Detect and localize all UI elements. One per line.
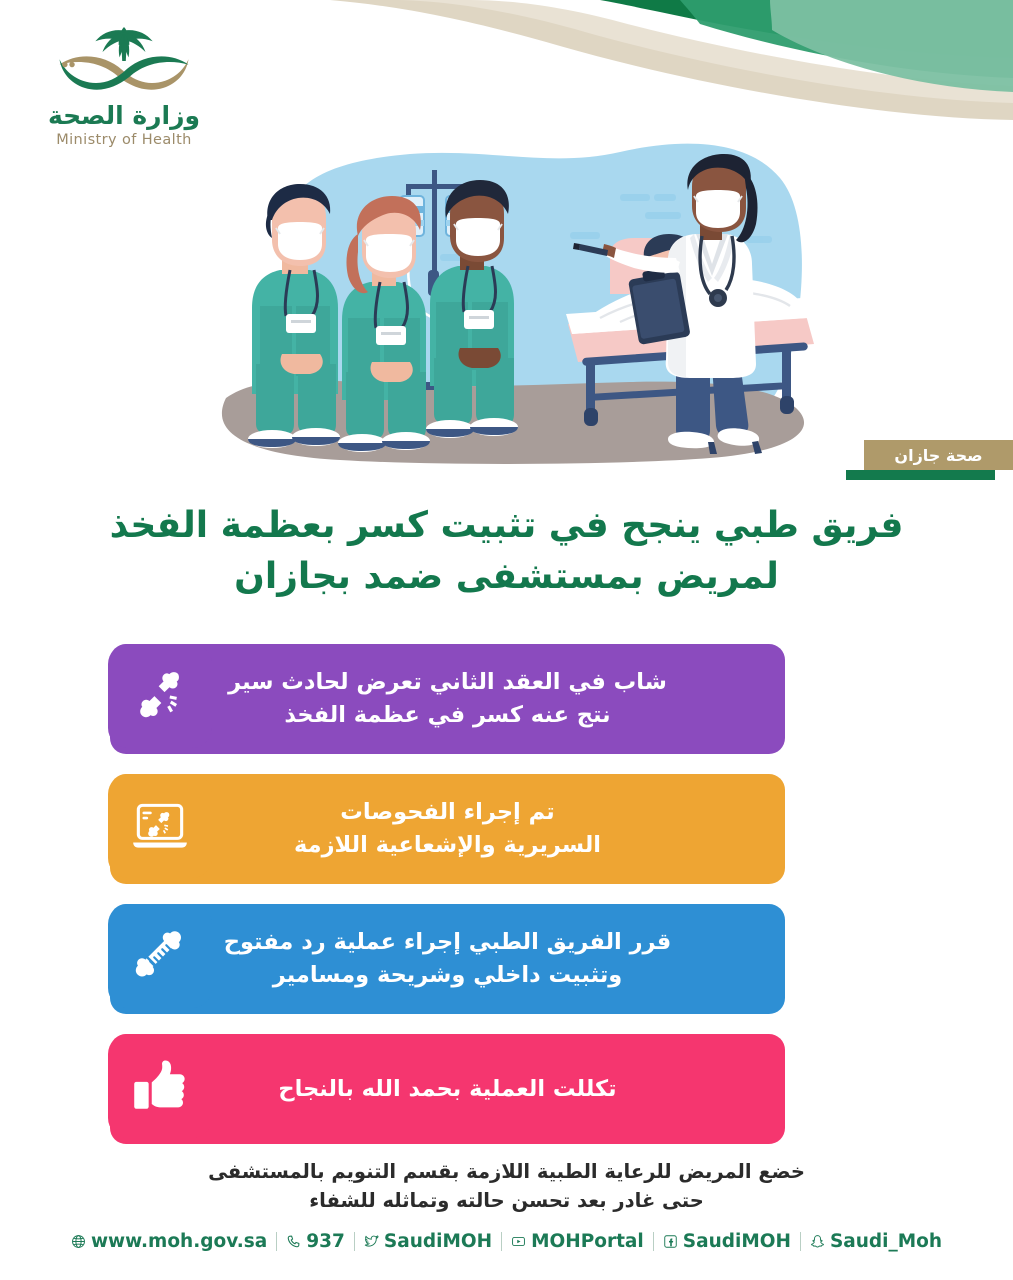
step-row: شاب في العقد الثاني تعرض لحادث سير نتج ع… xyxy=(0,644,1013,754)
social-label: MOHPortal xyxy=(531,1231,644,1252)
logo-arabic-text: وزارة الصحة xyxy=(34,102,214,131)
social-label: 937 xyxy=(306,1231,345,1252)
social-item-phone[interactable]: 937 xyxy=(277,1231,354,1252)
step-row: تكللت العملية بحمد الله بالنجاح xyxy=(0,1034,1013,1144)
bone-plate-screws-icon-tile xyxy=(108,904,212,1008)
note-line-2: حتى غادر بعد تحسن حالته وتماثله للشفاء xyxy=(60,1186,953,1215)
moh-logo-mark-icon xyxy=(34,18,214,104)
social-item-youtube[interactable]: MOHPortal xyxy=(502,1231,653,1252)
closing-note: خضع المريض للرعاية الطبية اللازمة بقسم ا… xyxy=(60,1157,953,1216)
phone-icon xyxy=(286,1234,301,1249)
moh-logo: وزارة الصحة Ministry of Health xyxy=(34,18,214,149)
badge-label: صحة جازان xyxy=(864,440,1013,470)
globe-icon xyxy=(71,1234,86,1249)
logo-english-text: Ministry of Health xyxy=(34,132,214,149)
step-line-1: تم إجراء الفحوصات xyxy=(294,796,601,829)
social-label: www.moh.gov.sa xyxy=(91,1231,267,1252)
step-line-2: وتثبيت داخلي وشريحة ومسامير xyxy=(224,959,672,992)
step-line-2: السريرية والإشعاعية اللازمة xyxy=(294,829,601,862)
social-item-snapchat[interactable]: Saudi_Moh xyxy=(801,1231,951,1252)
social-label: Saudi_Moh xyxy=(830,1231,942,1252)
badge-green-bar xyxy=(846,470,995,480)
youtube-icon xyxy=(511,1234,526,1249)
thumbs-up-icon xyxy=(127,1053,193,1119)
thumbs-up-icon-tile xyxy=(108,1034,212,1138)
xray-laptop-icon-tile xyxy=(108,774,212,878)
jazan-health-badge: صحة جازان xyxy=(846,440,1013,488)
step-line-2: نتج عنه كسر في عظمة الفخذ xyxy=(228,699,667,732)
bone-plate-screws-icon xyxy=(127,923,193,989)
twitter-icon xyxy=(364,1234,379,1249)
snapchat-icon xyxy=(810,1234,825,1249)
steps-list: شاب في العقد الثاني تعرض لحادث سير نتج ع… xyxy=(0,644,1013,1164)
hospital-illustration xyxy=(190,108,850,478)
title-line-1: فريق طبي ينجح في تثبيت كسر بعظمة الفخذ xyxy=(40,500,973,551)
social-footer: www.moh.gov.sa 937 SaudiMOH MOHPortal Sa… xyxy=(0,1231,1013,1252)
broken-bone-icon xyxy=(127,663,193,729)
social-label: SaudiMOH xyxy=(384,1231,492,1252)
xray-laptop-icon xyxy=(127,793,193,859)
social-item-website[interactable]: www.moh.gov.sa xyxy=(62,1231,276,1252)
social-item-facebook[interactable]: SaudiMOH xyxy=(654,1231,800,1252)
broken-bone-icon-tile xyxy=(108,644,212,748)
step-line-1: شاب في العقد الثاني تعرض لحادث سير xyxy=(228,666,667,699)
social-label: SaudiMOH xyxy=(683,1231,791,1252)
step-row: قرر الفريق الطبي إجراء عملية رد مفتوح وت… xyxy=(0,904,1013,1014)
note-line-1: خضع المريض للرعاية الطبية اللازمة بقسم ا… xyxy=(60,1157,953,1186)
social-item-twitter[interactable]: SaudiMOH xyxy=(355,1231,501,1252)
page-title: فريق طبي ينجح في تثبيت كسر بعظمة الفخذ ل… xyxy=(40,500,973,602)
step-line-1: تكللت العملية بحمد الله بالنجاح xyxy=(278,1073,616,1106)
step-row: تم إجراء الفحوصات السريرية والإشعاعية ال… xyxy=(0,774,1013,884)
step-line-1: قرر الفريق الطبي إجراء عملية رد مفتوح xyxy=(224,926,672,959)
title-line-2: لمريض بمستشفى ضمد بجازان xyxy=(40,551,973,602)
facebook-icon xyxy=(663,1234,678,1249)
